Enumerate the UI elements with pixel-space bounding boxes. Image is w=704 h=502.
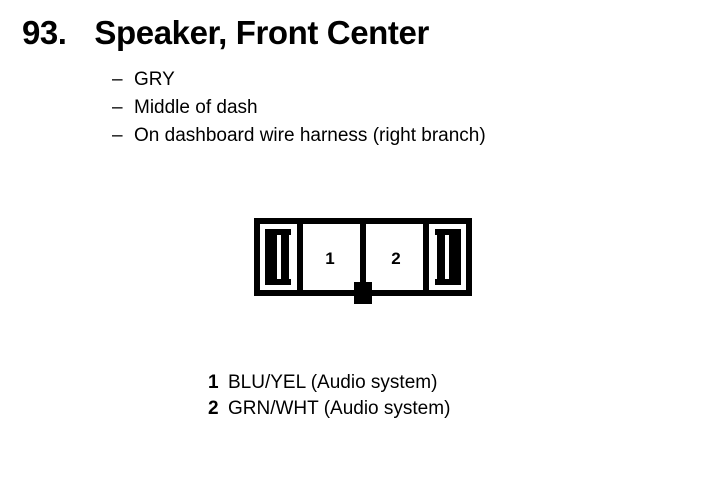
legend-pin-label: GRN/WHT (Audio system) [228,396,450,422]
connector-reference-page: 93. Speaker, Front Center – GRY – Middle… [0,0,704,502]
entry-number: 93. [22,14,66,52]
detail-list: – GRY – Middle of dash – On dashboard wi… [112,66,486,150]
left-latch-slot [281,233,289,281]
cavity-center-divider [360,224,366,284]
right-latch-slot [437,233,445,281]
page-title: Speaker, Front Center [94,14,429,52]
dash-icon: – [112,66,134,94]
list-item: – Middle of dash [112,94,486,122]
list-item-label: Middle of dash [134,94,258,122]
dash-icon: – [112,122,134,150]
cavity-2-number: 2 [391,249,400,268]
cavity-1-number: 1 [325,249,334,268]
pin-legend: 1 BLU/YEL (Audio system) 2 GRN/WHT (Audi… [208,370,450,422]
cavity-left-wall [297,224,303,290]
legend-pin-label: BLU/YEL (Audio system) [228,370,437,396]
legend-row: 1 BLU/YEL (Audio system) [208,370,450,396]
legend-pin-number: 1 [208,370,228,396]
dash-icon: – [112,94,134,122]
list-item: – GRY [112,66,486,94]
page-header: 93. Speaker, Front Center [22,14,429,52]
list-item: – On dashboard wire harness (right branc… [112,122,486,150]
cavity-right-wall [423,224,429,290]
list-item-label: GRY [134,66,175,94]
connector-diagram: 1 2 [248,212,478,312]
connector-illustration: 1 2 [248,212,478,312]
legend-row: 2 GRN/WHT (Audio system) [208,396,450,422]
list-item-label: On dashboard wire harness (right branch) [134,122,486,150]
legend-pin-number: 2 [208,396,228,422]
